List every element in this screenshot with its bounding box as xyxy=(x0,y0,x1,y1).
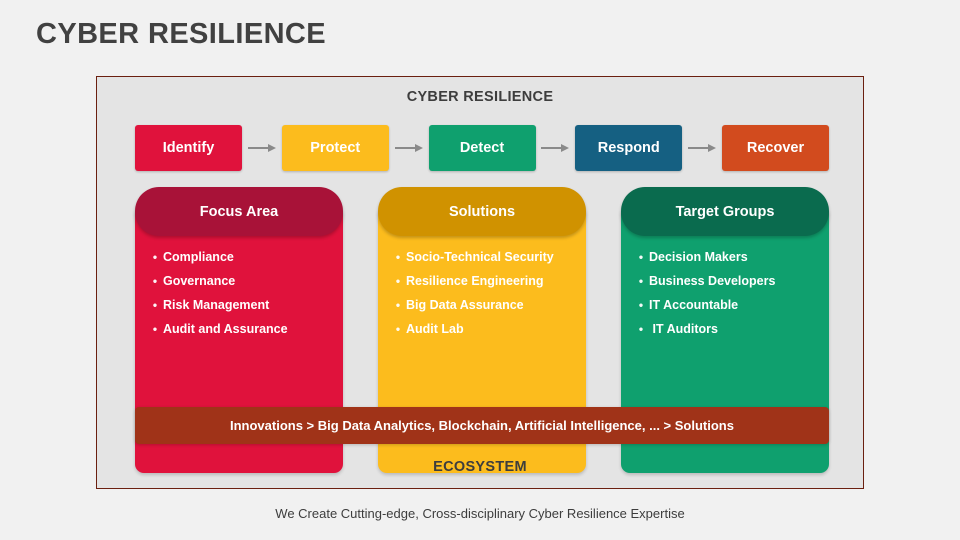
list-item[interactable]: •IT Accountable xyxy=(633,297,819,313)
list-item[interactable]: •Audit Lab xyxy=(390,321,576,337)
list-item-label: Risk Management xyxy=(163,297,333,313)
list-item-label: Socio-Technical Security xyxy=(406,249,576,265)
list-item[interactable]: •Big Data Assurance xyxy=(390,297,576,313)
bullet-icon: • xyxy=(390,321,406,337)
list-item-label: Decision Makers xyxy=(649,249,819,265)
list-item[interactable]: •Business Developers xyxy=(633,273,819,289)
bullet-icon: • xyxy=(390,297,406,313)
flow-step-detect[interactable]: Detect xyxy=(429,125,536,171)
bullet-icon: • xyxy=(147,297,163,313)
list-item[interactable]: •Decision Makers xyxy=(633,249,819,265)
list-item-label: Audit Lab xyxy=(406,321,576,337)
column-list-solutions: •Socio-Technical Security•Resilience Eng… xyxy=(378,249,586,345)
list-item-label: Audit and Assurance xyxy=(163,321,333,337)
bullet-icon: • xyxy=(633,273,649,289)
ecosystem-label: ECOSYSTEM xyxy=(97,459,863,475)
flow-step-respond[interactable]: Respond xyxy=(575,125,682,171)
list-item-label: Resilience Engineering xyxy=(406,273,576,289)
column-header-solutions[interactable]: Solutions xyxy=(378,187,586,236)
slide-caption: We Create Cutting-edge, Cross-disciplina… xyxy=(0,506,960,521)
page-title: CYBER RESILIENCE xyxy=(36,18,326,51)
list-item[interactable]: •Compliance xyxy=(147,249,333,265)
panel-title: CYBER RESILIENCE xyxy=(97,89,863,105)
column-list-target-groups: •Decision Makers•Business Developers•IT … xyxy=(621,249,829,345)
list-item-label: Governance xyxy=(163,273,333,289)
arrow-right-icon xyxy=(247,142,277,154)
column-header-target-groups[interactable]: Target Groups xyxy=(621,187,829,236)
bullet-icon: • xyxy=(390,273,406,289)
flow-step-recover[interactable]: Recover xyxy=(722,125,829,171)
list-item[interactable]: •Governance xyxy=(147,273,333,289)
bullet-icon: • xyxy=(147,273,163,289)
bullet-icon: • xyxy=(633,297,649,313)
list-item[interactable]: •Socio-Technical Security xyxy=(390,249,576,265)
nist-flow-row: IdentifyProtectDetectRespondRecover xyxy=(135,125,829,171)
list-item-label: Business Developers xyxy=(649,273,819,289)
cyber-resilience-panel: CYBER RESILIENCE IdentifyProtectDetectRe… xyxy=(96,76,864,489)
bullet-icon: • xyxy=(147,249,163,265)
bullet-icon: • xyxy=(633,321,649,337)
list-item[interactable]: •Risk Management xyxy=(147,297,333,313)
bullet-icon: • xyxy=(147,321,163,337)
arrow-right-icon xyxy=(687,142,717,154)
bullet-icon: • xyxy=(633,249,649,265)
innovations-bar[interactable]: Innovations > Big Data Analytics, Blockc… xyxy=(135,407,829,444)
arrow-right-icon xyxy=(540,142,570,154)
list-item-label: IT Accountable xyxy=(649,297,819,313)
list-item-label: Big Data Assurance xyxy=(406,297,576,313)
list-item[interactable]: • IT Auditors xyxy=(633,321,819,337)
flow-step-identify[interactable]: Identify xyxy=(135,125,242,171)
column-header-focus-area[interactable]: Focus Area xyxy=(135,187,343,236)
list-item[interactable]: •Audit and Assurance xyxy=(147,321,333,337)
list-item-label: IT Auditors xyxy=(649,321,819,337)
list-item-label: Compliance xyxy=(163,249,333,265)
flow-step-protect[interactable]: Protect xyxy=(282,125,389,171)
arrow-right-icon xyxy=(394,142,424,154)
bullet-icon: • xyxy=(390,249,406,265)
column-list-focus-area: •Compliance•Governance•Risk Management•A… xyxy=(135,249,343,345)
list-item[interactable]: •Resilience Engineering xyxy=(390,273,576,289)
